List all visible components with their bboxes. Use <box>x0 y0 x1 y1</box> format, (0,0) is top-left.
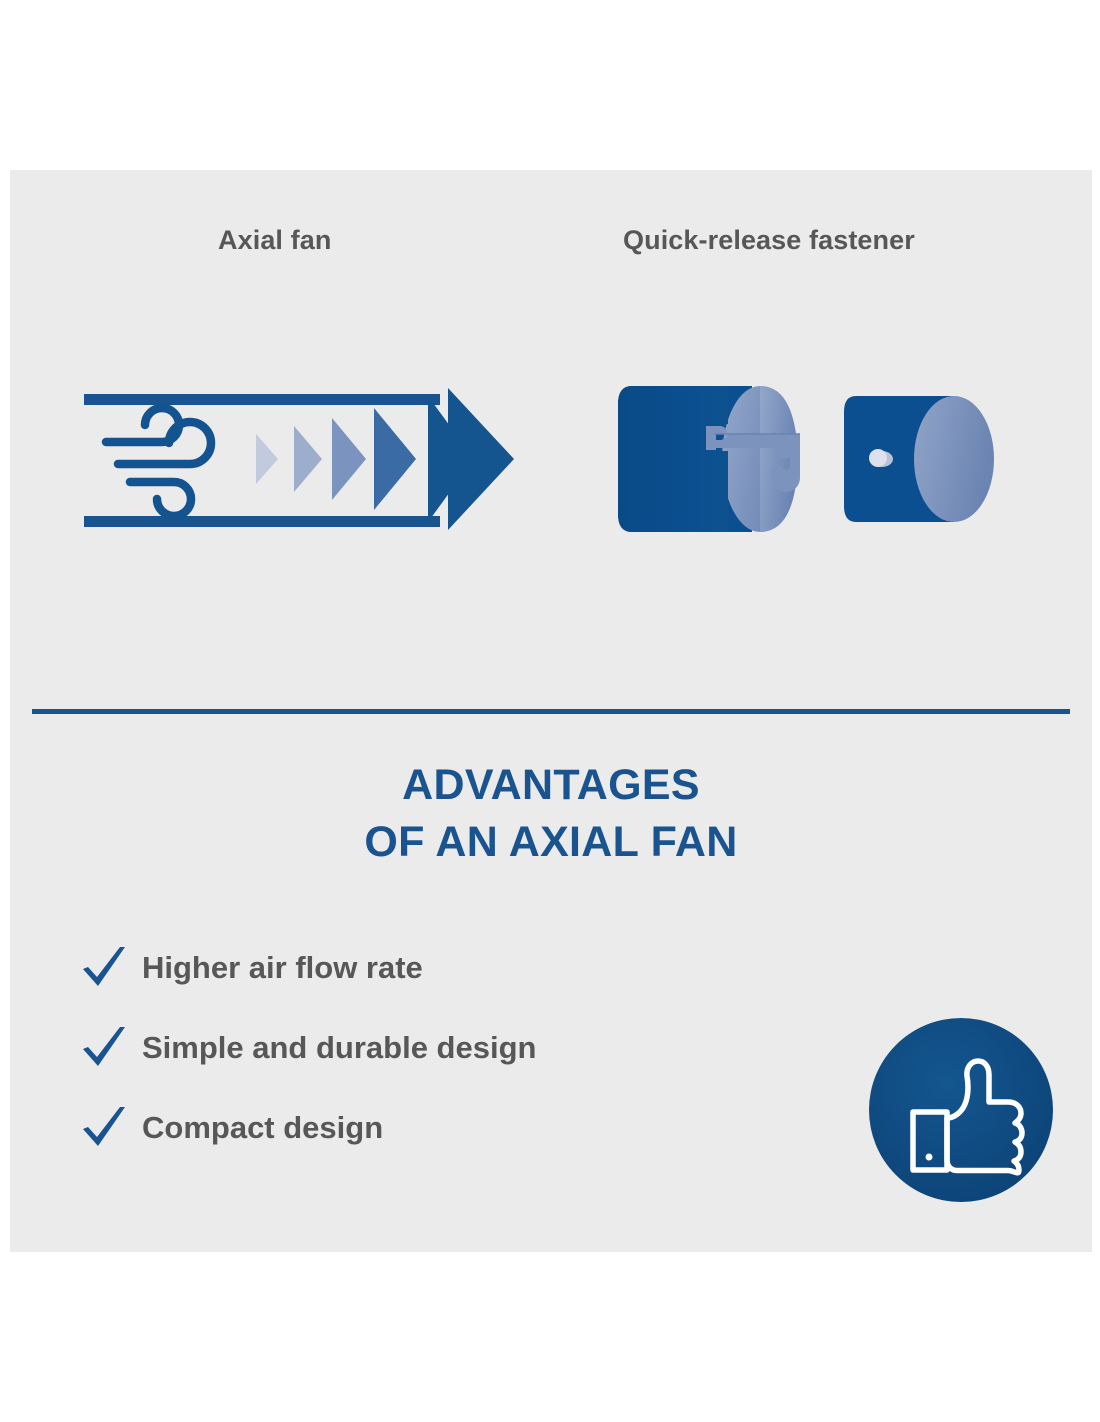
section-divider <box>32 709 1070 714</box>
axial-fan-airflow-icon <box>70 380 520 540</box>
flow-arrow-3 <box>332 418 366 500</box>
status-badge <box>869 1018 1053 1202</box>
duct-bar-top <box>84 394 440 405</box>
flow-arrow-large <box>448 388 514 530</box>
section-heading-quick-release-fastener: Quick-release fastener <box>623 225 915 256</box>
check-mark-icon <box>78 942 130 994</box>
infographic-canvas: Axial fan Quick-release fastener <box>0 0 1100 1422</box>
list-item: Higher air flow rate <box>78 928 798 1008</box>
list-item-label: Compact design <box>142 1110 383 1146</box>
bayonet-slot-entry <box>706 426 716 450</box>
left-cylinder-body-overlay <box>618 386 728 532</box>
list-item: Simple and durable design <box>78 1008 798 1088</box>
pin-stud-head <box>869 449 887 467</box>
thumbs-up-badge-svg <box>869 1018 1053 1202</box>
duct-bar-bottom <box>84 516 440 527</box>
page-title: ADVANTAGES OF AN AXIAL FAN <box>10 757 1092 871</box>
check-mark-icon <box>78 1102 130 1154</box>
wind-swirl-icon <box>106 408 211 516</box>
page-title-line-1: ADVANTAGES <box>10 757 1092 814</box>
section-heading-axial-fan: Axial fan <box>218 225 331 256</box>
page-title-line-2: OF AN AXIAL FAN <box>10 814 1092 871</box>
list-item: Compact design <box>78 1088 798 1168</box>
list-item-label: Higher air flow rate <box>142 950 423 986</box>
list-item-label: Simple and durable design <box>142 1030 536 1066</box>
check-mark-icon <box>78 1022 130 1074</box>
flow-arrow-2 <box>294 426 322 492</box>
right-cylinder-face <box>914 396 994 522</box>
bayonet-slot-hook <box>772 448 800 492</box>
quick-release-fastener-icon <box>610 350 1020 565</box>
fastener-svg <box>610 350 1020 565</box>
axial-fan-svg <box>70 380 520 540</box>
advantages-list: Higher air flow rate Simple and durable … <box>78 928 798 1168</box>
pin-stud-cylinder <box>844 396 994 522</box>
flow-arrow-1 <box>256 434 278 484</box>
bayonet-slot-cylinder <box>618 386 800 532</box>
flow-arrow-4 <box>374 408 416 510</box>
